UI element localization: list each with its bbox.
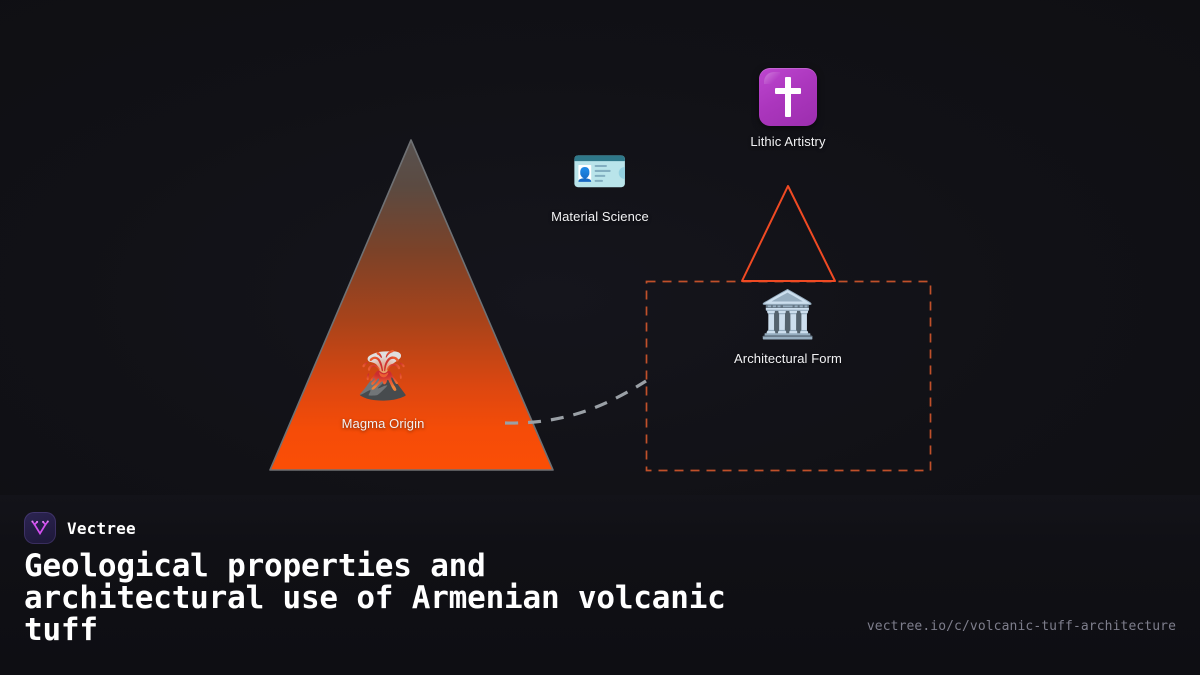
screenshot-root: 🌋 Magma Origin 🪪 Material Science Lithic…	[0, 0, 1200, 675]
page-title: Geological properties and architectural …	[24, 550, 904, 646]
graph-vector-layer	[0, 0, 1200, 495]
classical-building-icon: 🏛️	[759, 291, 816, 337]
volcano-icon: 🌋	[354, 352, 411, 398]
vectree-logo-icon	[24, 512, 56, 544]
node-label-magma-origin: Magma Origin	[342, 416, 425, 431]
edge-magma-to-architectural	[505, 381, 646, 423]
graph-canvas[interactable]: 🌋 Magma Origin 🪪 Material Science Lithic…	[0, 0, 1200, 495]
node-label-architectural-form: Architectural Form	[734, 351, 842, 366]
outline-triangle[interactable]	[742, 186, 835, 281]
brand-row[interactable]: Vectree	[24, 512, 136, 544]
lithic-artistry-card[interactable]	[759, 68, 817, 126]
node-label-lithic-artistry: Lithic Artistry	[750, 134, 825, 149]
node-label-material-science: Material Science	[551, 209, 649, 224]
share-url: vectree.io/c/volcanic-tuff-architecture	[867, 619, 1176, 634]
footer-bar: Vectree Geological properties and archit…	[0, 495, 1200, 675]
rock-icon: 🪪	[571, 148, 628, 194]
brand-name: Vectree	[67, 519, 136, 538]
